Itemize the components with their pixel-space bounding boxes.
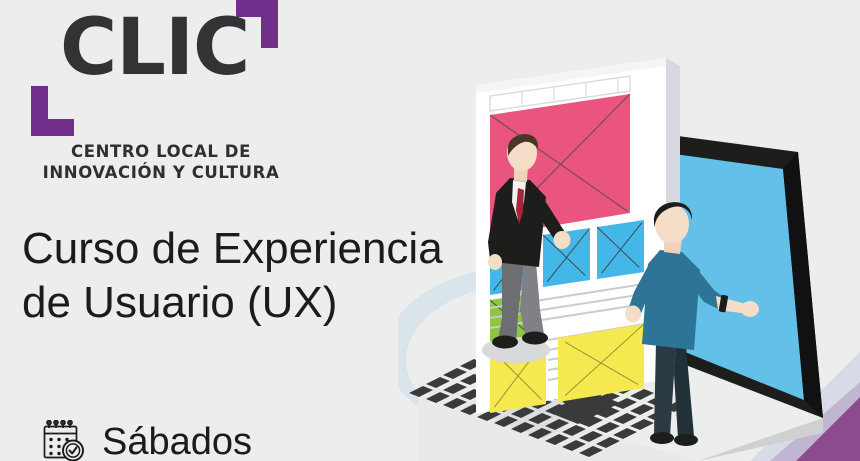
schedule-row: Sábados <box>42 420 252 461</box>
ux-design-illustration <box>398 52 860 461</box>
brand-subtitle-line1: CENTRO LOCAL DE <box>28 141 294 162</box>
brand-logo: CLIC CENTRO LOCAL DE INNOVACIÓN Y CULTUR… <box>0 0 320 195</box>
brand-subtitle: CENTRO LOCAL DE INNOVACIÓN Y CULTURA <box>28 141 294 183</box>
calendar-clock-icon <box>42 420 89 461</box>
brand-subtitle-line2: INNOVACIÓN Y CULTURA <box>28 162 294 183</box>
schedule-label: Sábados <box>102 422 252 461</box>
corner-bracket-bottom-left-icon <box>31 86 74 136</box>
banner-canvas: CLIC CENTRO LOCAL DE INNOVACIÓN Y CULTUR… <box>0 0 860 461</box>
brand-wordmark: CLIC <box>60 9 249 87</box>
